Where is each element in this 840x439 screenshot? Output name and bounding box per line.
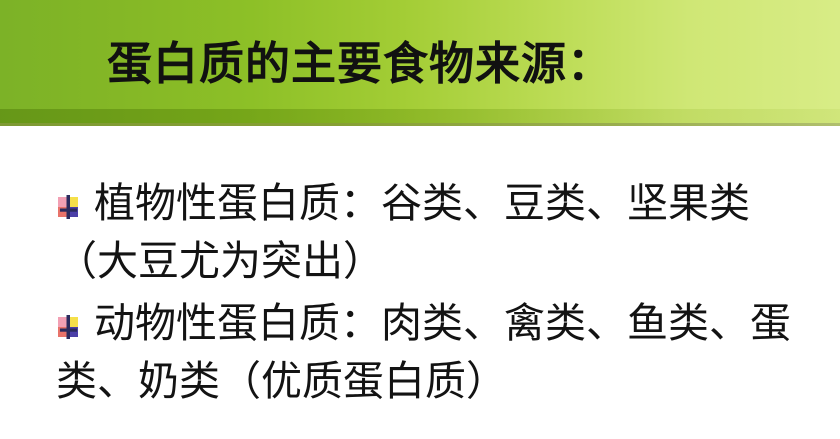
bullet-item-plant-protein: 植物性蛋白质：谷类、豆类、坚果类（大豆尤为突出） bbox=[56, 174, 816, 290]
multicolor-cross-bullet-icon bbox=[56, 315, 80, 339]
multicolor-cross-bullet-icon bbox=[56, 195, 80, 219]
slide-body: 植物性蛋白质：谷类、豆类、坚果类（大豆尤为突出） 动物性蛋白质：肉类、禽类、鱼类… bbox=[0, 126, 840, 439]
slide: 蛋白质的主要食物来源： 植物性蛋白质：谷类、豆类、坚果类（大豆尤为突出） bbox=[0, 0, 840, 439]
bullet-item-animal-protein: 动物性蛋白质：肉类、禽类、鱼类、蛋类、奶类（优质蛋白质） bbox=[56, 294, 816, 410]
header-band-shade bbox=[0, 109, 840, 123]
page-title: 蛋白质的主要食物来源： bbox=[0, 36, 840, 92]
bullet-label-plant-protein: 植物性蛋白质：谷类、豆类、坚果类（大豆尤为突出） bbox=[56, 179, 750, 285]
bullet-label-animal-protein: 动物性蛋白质：肉类、禽类、鱼类、蛋类、奶类（优质蛋白质） bbox=[56, 299, 791, 405]
